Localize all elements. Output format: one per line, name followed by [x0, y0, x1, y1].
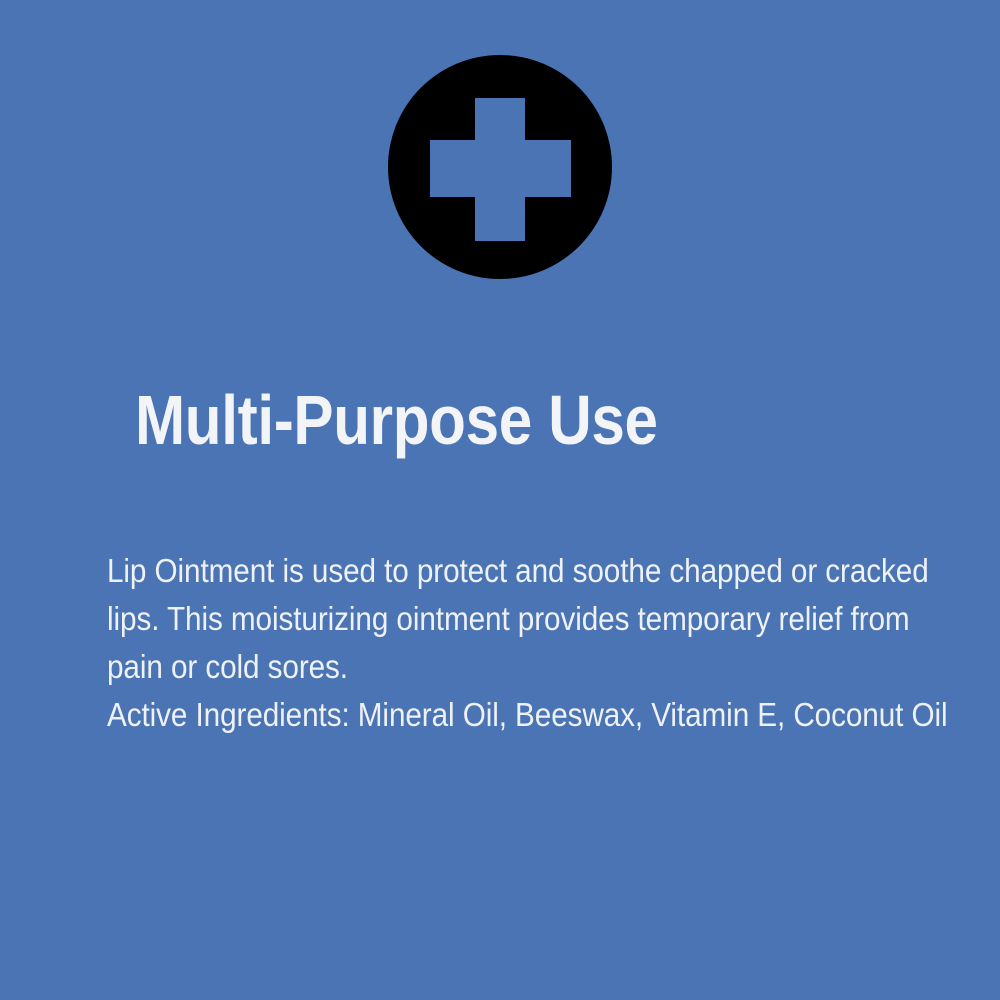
description-line: Lip Ointment is used to protect and soot… [107, 547, 917, 595]
description-line: lips. This moisturizing ointment provide… [107, 595, 917, 643]
description-block: Lip Ointment is used to protect and soot… [107, 547, 1000, 739]
medical-cross-circle-icon [388, 55, 612, 279]
product-feature-card: Multi-Purpose Use Lip Ointment is used t… [0, 0, 1000, 1000]
description-line: pain or cold sores. [107, 643, 917, 691]
page-title: Multi-Purpose Use [135, 385, 823, 455]
active-ingredients-line: Active Ingredients: Mineral Oil, Beeswax… [107, 691, 917, 739]
